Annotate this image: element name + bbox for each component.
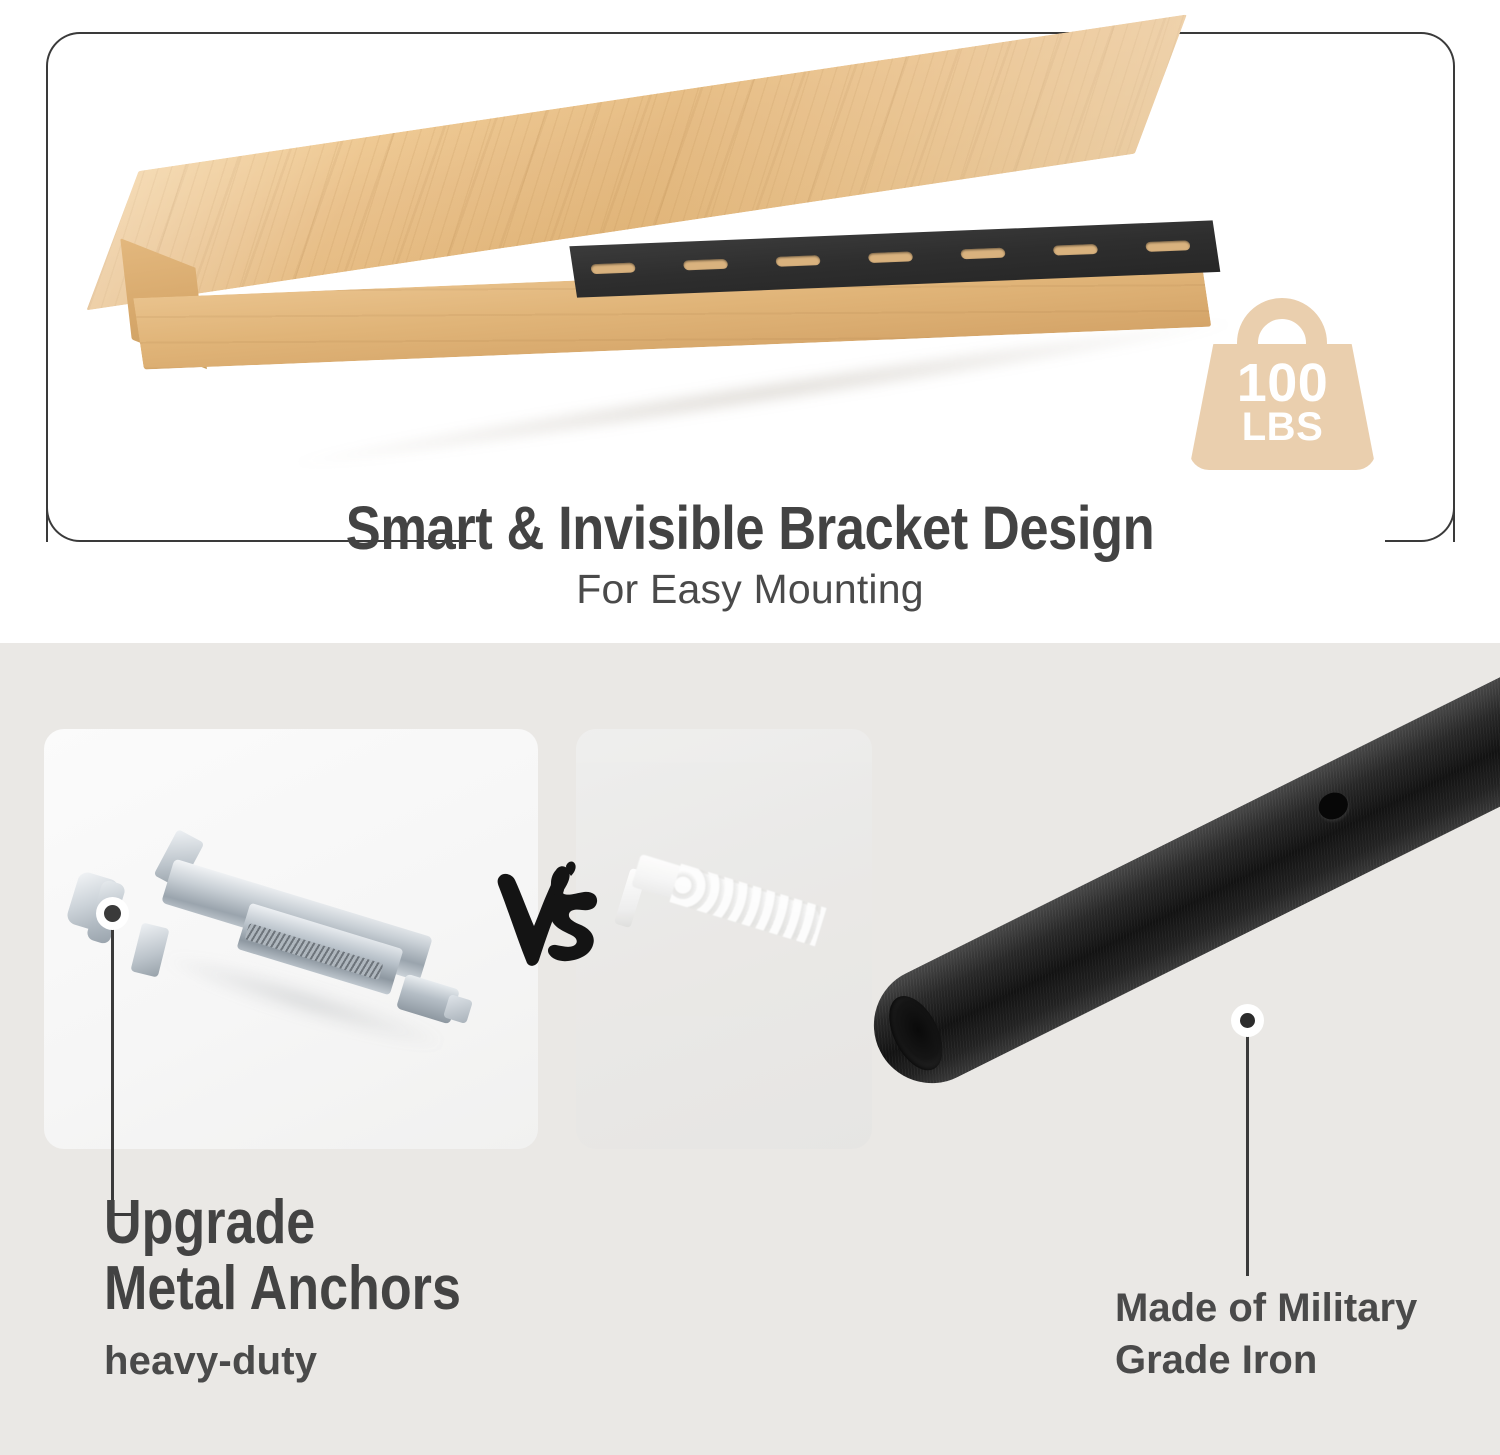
bracket-slot xyxy=(960,248,1006,260)
metal-anchor-photo xyxy=(44,729,538,1149)
iron-rod-photo xyxy=(820,703,1500,1263)
iron-rod-hollow-end xyxy=(878,988,953,1079)
weight-badge-text: 100 LBS xyxy=(1185,358,1380,446)
caption-left-subtitle: heavy-duty xyxy=(104,1339,724,1384)
caption-left-title-line2: Metal Anchors xyxy=(104,1256,625,1322)
shelf-product-photo xyxy=(120,0,1270,500)
metal-anchor-card xyxy=(44,729,538,1149)
caption-left-title-line1: Upgrade xyxy=(104,1190,625,1256)
callout-marker-iron-rod xyxy=(1231,1004,1264,1037)
weight-unit: LBS xyxy=(1185,409,1380,447)
decorative-frame-bottom-right xyxy=(1385,492,1455,542)
caption-right-line2: Grade Iron xyxy=(1115,1334,1495,1386)
versus-icon xyxy=(494,852,614,982)
top-feature-panel: 100 LBS Smart & Invisible Bracket Design… xyxy=(0,0,1500,643)
product-feature-graphic: 100 LBS Smart & Invisible Bracket Design… xyxy=(0,0,1500,1455)
subheadline: For Easy Mounting xyxy=(0,566,1500,613)
bracket-slot xyxy=(868,251,914,263)
bracket-slot xyxy=(775,255,821,267)
caption-right-line1: Made of Military xyxy=(1115,1282,1495,1334)
bracket-slot xyxy=(683,259,729,271)
headline: Smart & Invisible Bracket Design xyxy=(105,493,1395,563)
caption-metal-anchors: Upgrade Metal Anchors heavy-duty xyxy=(104,1190,724,1384)
bracket-slot xyxy=(1053,244,1099,256)
bracket-slot xyxy=(1145,240,1191,252)
weight-value: 100 xyxy=(1185,358,1380,409)
iron-rod-screw-hole xyxy=(1314,788,1352,825)
callout-marker-metal-anchor xyxy=(96,897,129,930)
plastic-anchor-ridges xyxy=(669,864,826,947)
callout-leader-left-line xyxy=(111,920,114,1216)
weight-capacity-icon: 100 LBS xyxy=(1185,298,1380,470)
callout-leader-right-line xyxy=(1246,1036,1249,1276)
bracket-slot xyxy=(590,263,636,275)
iron-rod-body xyxy=(854,660,1500,1103)
caption-military-grade-iron: Made of Military Grade Iron xyxy=(1115,1282,1495,1386)
